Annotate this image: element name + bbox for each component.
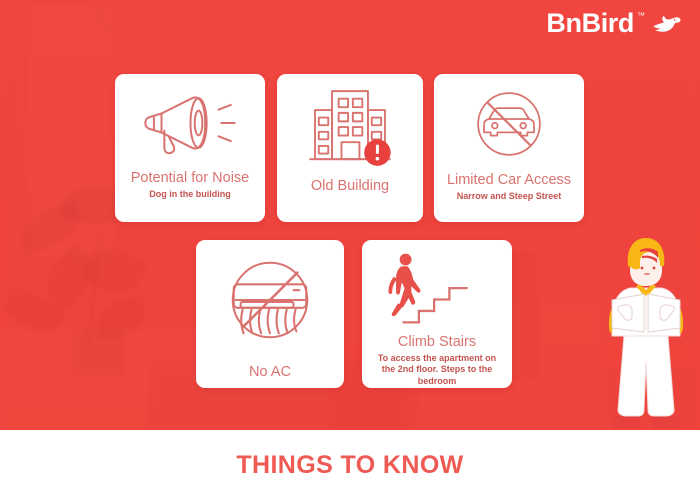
card-text-block: Old Building	[285, 178, 415, 195]
megaphone-icon	[123, 84, 257, 162]
card-title: Potential for Noise	[123, 170, 257, 187]
bird-icon	[652, 13, 682, 35]
building-warning-icon	[285, 84, 415, 172]
no-air-conditioner-icon	[204, 250, 336, 350]
no-car-icon	[442, 84, 576, 164]
card-title: No AC	[204, 364, 336, 381]
card-old-building[interactable]: Old Building	[277, 74, 423, 222]
card-subtitle: Dog in the building	[123, 189, 257, 201]
card-text-block: Climb Stairs To access the apartment on …	[370, 334, 504, 387]
brand-logo[interactable]: BnBird ™	[546, 10, 682, 37]
card-potential-for-noise[interactable]: Potential for Noise Dog in the building	[115, 74, 265, 222]
card-subtitle: Narrow and Steep Street	[442, 191, 576, 203]
card-title: Old Building	[285, 178, 415, 195]
card-text-block: Potential for Noise Dog in the building	[123, 170, 257, 200]
card-title: Limited Car Access	[442, 172, 576, 189]
cards-container: Potential for Noise Dog in the building	[0, 0, 700, 500]
card-text-block: Limited Car Access Narrow and Steep Stre…	[442, 172, 576, 202]
card-limited-car-access[interactable]: Limited Car Access Narrow and Steep Stre…	[434, 74, 584, 222]
card-no-ac[interactable]: No AC	[196, 240, 344, 388]
card-text-block: No AC	[204, 364, 336, 381]
brand-name: BnBird	[546, 10, 634, 37]
person-climbing-stairs-icon	[370, 250, 504, 330]
card-subtitle: To access the apartment on the 2nd floor…	[370, 353, 504, 388]
card-title: Climb Stairs	[370, 334, 504, 351]
things-to-know-poster: BnBird ™	[0, 0, 700, 500]
trademark-symbol: ™	[637, 12, 645, 20]
card-climb-stairs[interactable]: Climb Stairs To access the apartment on …	[362, 240, 512, 388]
